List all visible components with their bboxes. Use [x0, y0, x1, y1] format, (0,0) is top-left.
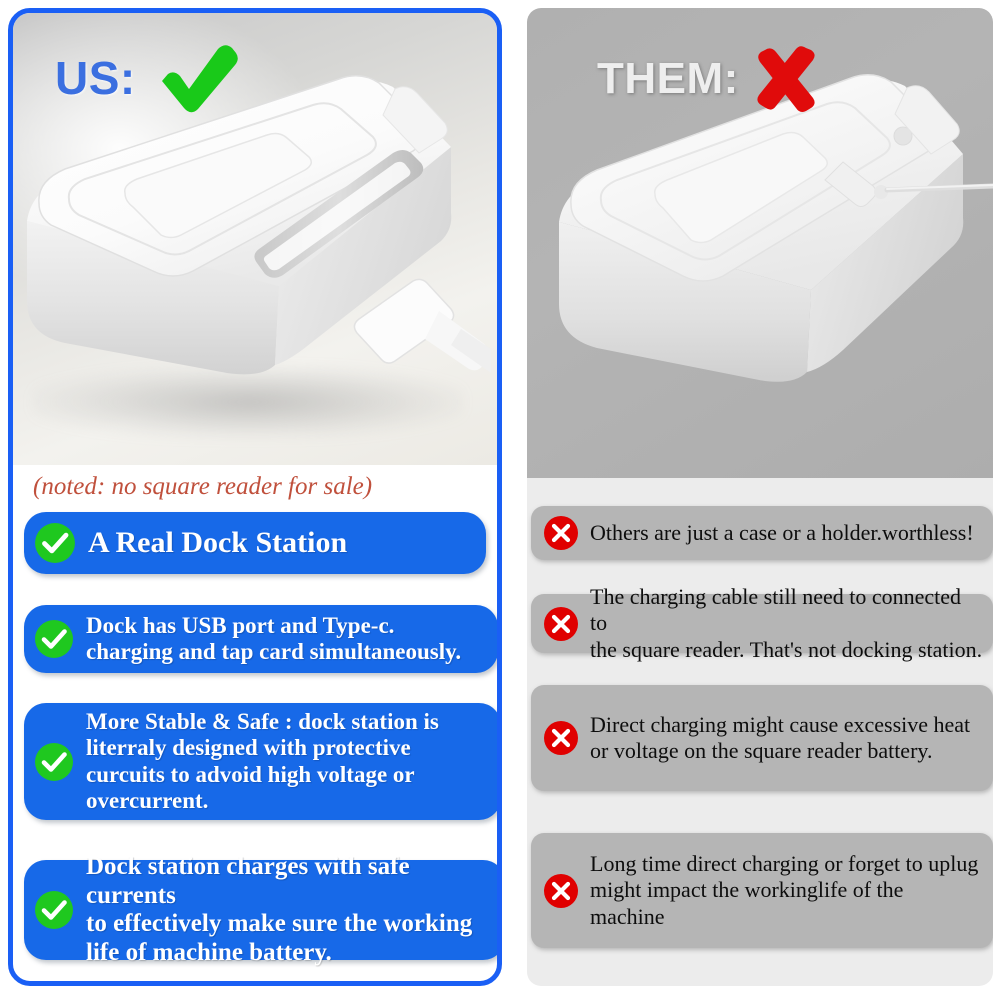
them-bullet-1: Others are just a case or a holder.worth…: [531, 506, 993, 560]
us-header: US:: [55, 43, 240, 113]
green-check-circle-icon: [34, 619, 74, 659]
us-header-label: US:: [55, 51, 136, 105]
usb-c-cable: [354, 279, 491, 373]
red-x-circle-icon: [543, 606, 579, 642]
them-bullet-4: Long time direct charging or forget to u…: [531, 833, 993, 948]
red-x-circle-icon: [543, 515, 579, 551]
us-bullet-3: More Stable & Safe : dock station is lit…: [24, 703, 501, 820]
them-header-label: THEM:: [597, 54, 739, 104]
us-bullet-1: A Real Dock Station: [24, 512, 486, 574]
us-comparison-panel: US: (noted: no square reader for sale) A…: [8, 8, 502, 986]
green-check-circle-icon: [34, 890, 74, 930]
them-bullet-3: Direct charging might cause excessive he…: [531, 685, 993, 791]
them-bullet-4-text: Long time direct charging or forget to u…: [590, 851, 983, 930]
them-bullet-2-text: The charging cable still need to connect…: [590, 584, 983, 663]
us-bullet-2: Dock has USB port and Type-c. charging a…: [24, 605, 498, 673]
us-bullet-4: Dock station charges with safe currents …: [24, 860, 502, 960]
green-check-circle-icon: [34, 522, 76, 564]
us-bullet-1-text: A Real Dock Station: [88, 526, 347, 560]
red-x-circle-icon: [543, 873, 579, 909]
them-bullet-3-text: Direct charging might cause excessive he…: [590, 712, 970, 765]
them-bullet-1-text: Others are just a case or a holder.worth…: [590, 520, 974, 546]
green-check-circle-icon: [34, 742, 74, 782]
red-x-circle-icon: [543, 720, 579, 756]
them-header: THEM:: [597, 46, 821, 112]
us-bullet-4-text: Dock station charges with safe currents …: [86, 853, 493, 967]
red-x-mark-icon: [755, 46, 821, 112]
no-reader-note: (noted: no square reader for sale): [33, 473, 489, 501]
them-bullet-2: The charging cable still need to connect…: [531, 594, 993, 653]
us-bullet-3-text: More Stable & Safe : dock station is lit…: [86, 709, 439, 814]
us-bullet-2-text: Dock has USB port and Type-c. charging a…: [86, 613, 461, 665]
green-check-mark-icon: [156, 43, 240, 113]
them-comparison-panel: THEM: Others are just a case or a holder…: [527, 8, 993, 986]
